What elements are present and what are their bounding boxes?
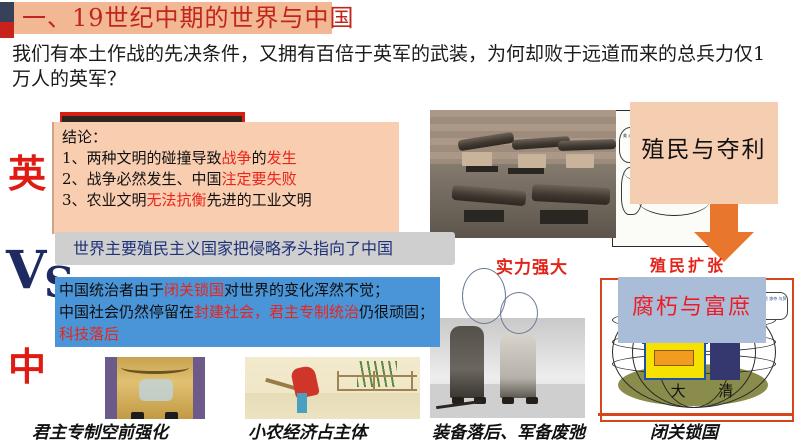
caption-4: 闭关锁国: [650, 422, 718, 444]
sketch-arc: [500, 292, 538, 334]
vs-v-mark: V: [6, 245, 46, 297]
label-china: 中: [8, 348, 46, 386]
conclusion-line-1: 1、两种文明的碰撞导致战争的发生: [54, 148, 399, 169]
label-great-qing: 大 清: [644, 380, 774, 401]
caption-3: 装备落后、军备废弛: [432, 422, 585, 444]
label-britain: 英: [8, 155, 46, 193]
photo-imperial-robe: [105, 357, 205, 419]
peach-caption-box: 殖民与夺利: [630, 102, 778, 204]
gray-statement-text: 世界主要殖民主义国家把侵略矛头指向了中国: [73, 238, 393, 259]
gray-statement-box: 世界主要殖民主义国家把侵略矛头指向了中国: [55, 232, 455, 265]
slide-root: 一、19世纪中期的世界与中国 我们有本土作战的先决条件，又拥有百倍于英军的武装，…: [0, 0, 794, 447]
lead-question: 我们有本土作战的先决条件，又拥有百倍于英军的武装，为何却败于远道而来的总兵力仅1…: [12, 42, 780, 92]
blue-line-2: 中国社会仍然停留在封建社会，君主专制统治仍很顽固；: [55, 301, 440, 323]
blue-line-1: 中国统治者由于闭关锁国对世界的变化浑然不觉；: [55, 277, 440, 301]
conclusion-line-2: 2、战争必然发生、中国注定要失败: [54, 169, 399, 190]
label-colonial-expansion: 殖民扩张: [650, 256, 726, 275]
caption-2: 小农经济占主体: [248, 422, 367, 444]
blue-statement-box: 中国统治者由于闭关锁国对世界的变化浑然不觉； 中国社会仍然停留在封建社会，君主专…: [55, 277, 440, 347]
divider-red: [598, 413, 794, 416]
peach-caption-text: 殖民与夺利: [630, 136, 778, 164]
bluegray-caption-box: 腐朽与富庶: [618, 277, 766, 343]
photo-cannons: [430, 110, 616, 238]
conclusion-line-3: 3、农业文明无法抗衡先进的工业文明: [54, 190, 399, 211]
photo-farming-scene: [245, 357, 420, 419]
caption-1: 君主专制空前强化: [32, 422, 168, 444]
bluegray-caption-text: 腐朽与富庶: [618, 294, 766, 321]
photo-soldiers: [430, 318, 585, 418]
down-arrow-icon: [694, 200, 754, 262]
label-strength: 实力强大: [496, 258, 568, 278]
conclusion-heading: 结论：: [54, 122, 399, 148]
page-title: 一、19世纪中期的世界与中国: [22, 4, 355, 33]
title-accent-bar: [0, 2, 14, 38]
blue-line-3: 科技落后: [55, 323, 440, 345]
conclusion-box: 结论： 1、两种文明的碰撞导致战争的发生 2、战争必然发生、中国注定要失败 3、…: [52, 122, 399, 234]
